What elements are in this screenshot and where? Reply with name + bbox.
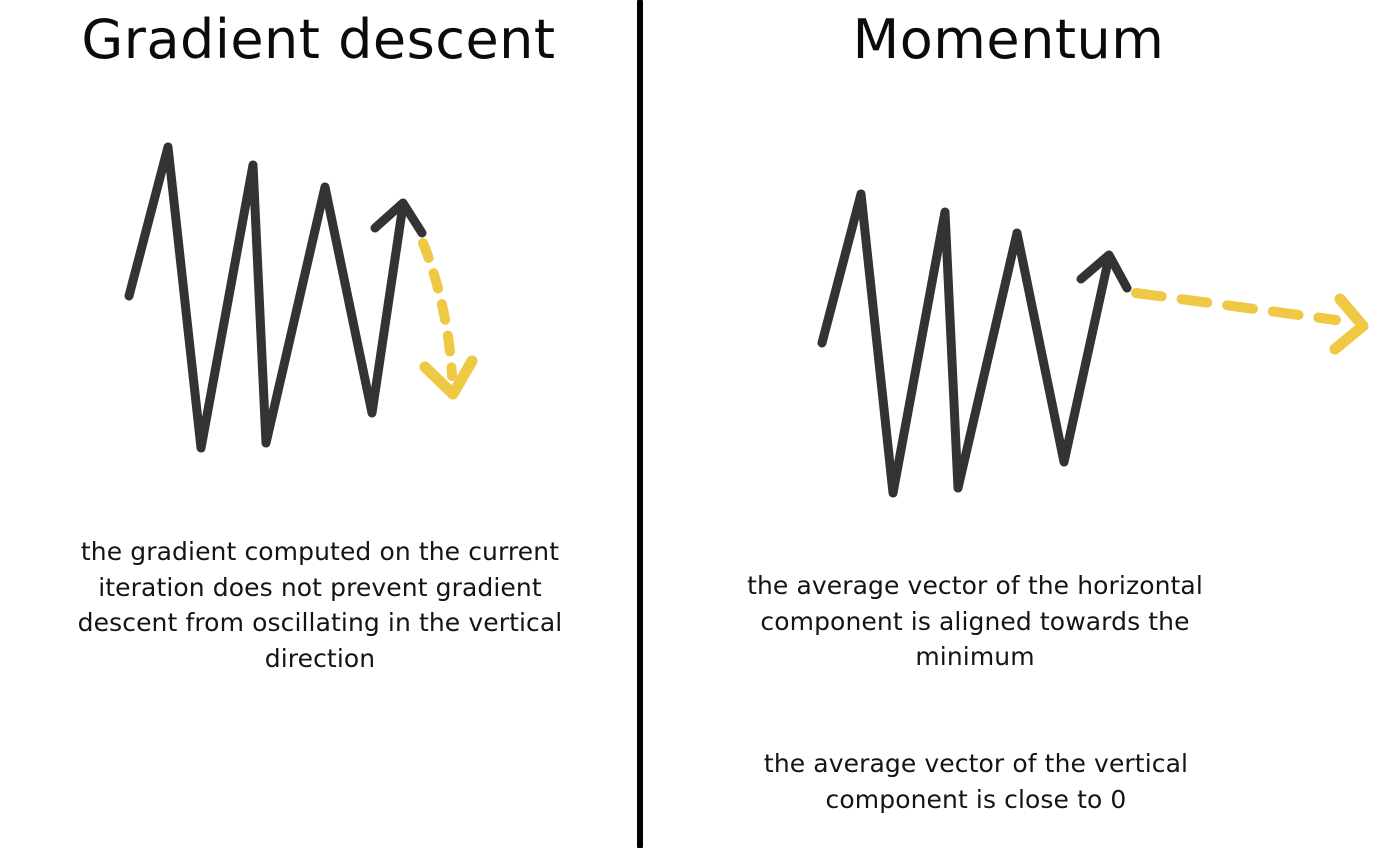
whiteboard-canvas: Gradient descent Momentum the gradient c…	[0, 0, 1374, 852]
page-title-gradient-descent: Gradient descent	[0, 10, 637, 69]
panel-gradient-descent: Gradient descent	[0, 0, 637, 852]
caption-momentum-horizontal: the average vector of the horizontal com…	[740, 568, 1210, 675]
panel-momentum: Momentum	[643, 0, 1374, 852]
caption-momentum-vertical: the average vector of the vertical compo…	[718, 746, 1234, 817]
caption-gradient-descent: the gradient computed on the current ite…	[62, 534, 578, 676]
page-title-momentum: Momentum	[643, 10, 1374, 69]
